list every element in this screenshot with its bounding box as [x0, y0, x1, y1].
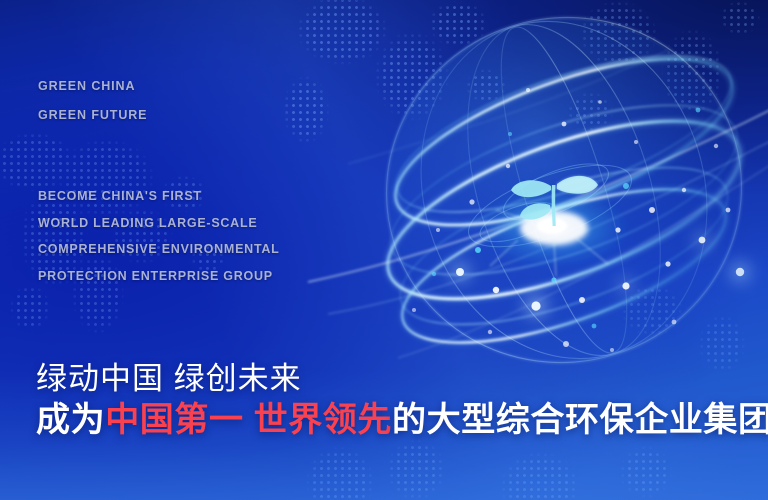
english-mission-statement: BECOME CHINA'S FIRST WORLD LEADING LARGE…: [38, 183, 280, 290]
headline-line-1: 绿动中国 绿创未来: [36, 360, 756, 398]
headline-plain-text: 的大型综合环保企业集团: [392, 401, 768, 439]
headline-line-2: 成为中国第一世界领先的大型综合环保企业集团: [36, 398, 756, 442]
headline-highlight-text: 中国第一: [105, 401, 243, 439]
chinese-headline: 绿动中国 绿创未来 成为中国第一世界领先的大型综合环保企业集团: [36, 360, 756, 442]
english-tagline: GREEN CHINA GREEN FUTURE: [38, 72, 147, 130]
banner-hero: GREEN CHINA GREEN FUTURE BECOME CHINA'S …: [0, 0, 768, 500]
english-mission-line-3: COMPREHENSIVE ENVIRONMENTAL: [38, 236, 280, 263]
english-mission-line-4: PROTECTION ENTERPRISE GROUP: [38, 263, 280, 290]
headline-plain-text: 成为: [36, 401, 105, 439]
globe-graphic: [368, 14, 768, 370]
headline-highlight-text: 世界领先: [254, 401, 392, 439]
english-tagline-line-2: GREEN FUTURE: [38, 101, 147, 130]
english-tagline-line-1: GREEN CHINA: [38, 72, 147, 101]
english-mission-line-2: WORLD LEADING LARGE-SCALE: [38, 210, 280, 237]
english-mission-line-1: BECOME CHINA'S FIRST: [38, 183, 280, 210]
